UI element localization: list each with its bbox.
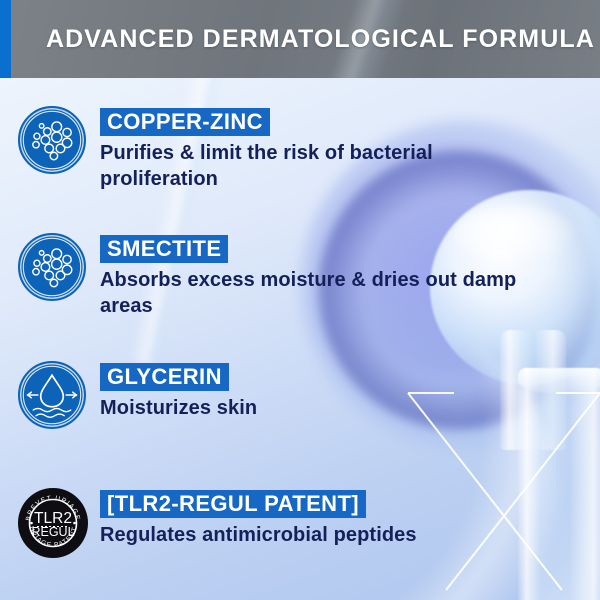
product-infographic: ADVANCED DERMATOLOGICAL FORMULA [0, 0, 600, 600]
feature-item-tlr2-patent: TLR2 REGUL BREVET URIAGE URIAGE PATENT [… [18, 488, 417, 556]
molecule-cluster-icon [18, 106, 86, 174]
feature-text-block: GLYCERIN Moisturizes skin [100, 361, 257, 422]
feature-title: [TLR2-REGUL PATENT] [100, 490, 366, 518]
x-line-d [556, 392, 600, 394]
feature-title: SMECTITE [100, 235, 228, 263]
feature-description: Moisturizes skin [100, 396, 257, 421]
feature-text-block: SMECTITE Absorbs excess moisture & dries… [100, 233, 570, 319]
feature-text-block: COPPER-ZINC Purifies & limit the risk of… [100, 106, 520, 192]
feature-description: Purifies & limit the risk of bacterial p… [100, 141, 520, 191]
patent-seal-icon: TLR2 REGUL BREVET URIAGE URIAGE PATENT [18, 488, 86, 556]
feature-title: GLYCERIN [100, 363, 229, 391]
feature-description: Absorbs excess moisture & dries out damp… [100, 268, 570, 318]
header-band: ADVANCED DERMATOLOGICAL FORMULA [0, 0, 600, 78]
feature-item-glycerin: GLYCERIN Moisturizes skin [18, 361, 257, 429]
feature-description: Regulates antimicrobial peptides [100, 523, 417, 548]
header-accent-bar [0, 0, 11, 78]
x-line-c [408, 392, 454, 394]
feature-item-copper-zinc: COPPER-ZINC Purifies & limit the risk of… [18, 106, 520, 192]
water-droplet-icon [18, 361, 86, 429]
molecule-cluster-icon [18, 233, 86, 301]
feature-text-block: [TLR2-REGUL PATENT] Regulates antimicrob… [100, 488, 417, 549]
feature-item-smectite: SMECTITE Absorbs excess moisture & dries… [18, 233, 570, 319]
feature-title: COPPER-ZINC [100, 108, 270, 136]
page-title: ADVANCED DERMATOLOGICAL FORMULA [46, 0, 595, 78]
